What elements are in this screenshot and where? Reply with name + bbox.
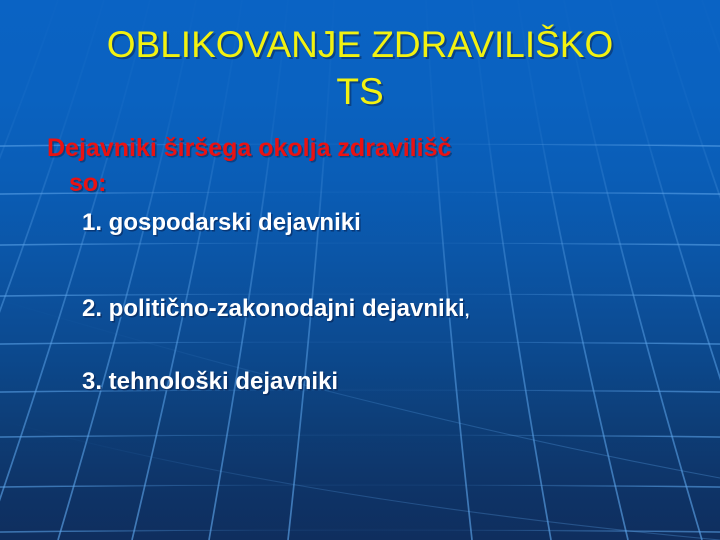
slide-title: OBLIKOVANJE ZDRAVILIŠKO TS [0, 22, 720, 116]
list-item: 2. politično-zakonodajni dejavniki, [82, 295, 469, 323]
list-item-text: 3. tehnološki dejavniki [82, 368, 338, 395]
list-item: 3. tehnološki dejavniki [82, 368, 338, 396]
subtitle-line-1: Dejavniki širšega okolja zdravilišč [47, 134, 451, 162]
list-item-trailing-punctuation: , [465, 301, 470, 320]
list-item-text: 2. politično-zakonodajni dejavniki [82, 295, 465, 322]
list-item-text: 1. gospodarski dejavniki [82, 209, 361, 236]
subtitle-line-2: so: [47, 166, 667, 201]
list-item: 1. gospodarski dejavniki [82, 209, 361, 237]
slide-subtitle: Dejavniki širšega okolja zdravilišč so: [47, 131, 667, 200]
presentation-slide: OBLIKOVANJE ZDRAVILIŠKO TS Dejavniki šir… [0, 0, 720, 540]
